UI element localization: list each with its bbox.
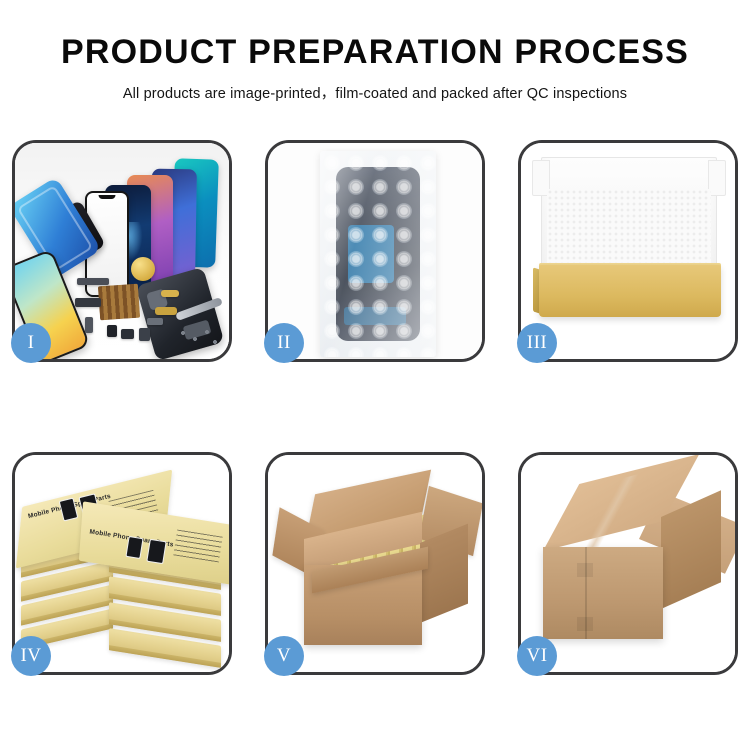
step-1-image: [15, 143, 229, 359]
page-subtitle: All products are image-printed，film-coat…: [0, 82, 750, 103]
process-step-panel-4: Mobile Phone Spare Parts Mobile Phone Sp…: [12, 452, 232, 675]
step-4-image: Mobile Phone Spare Parts Mobile Phone Sp…: [15, 455, 229, 672]
process-steps-grid: I II: [12, 140, 738, 675]
step-badge-4: IV: [11, 636, 51, 676]
step-3-image: [521, 143, 735, 359]
step-badge-5: V: [264, 636, 304, 676]
open-shipping-carton-illustration: [268, 455, 482, 672]
product-preparation-page: PRODUCT PREPARATION PROCESS All products…: [0, 0, 750, 750]
chip-array-icon: [98, 284, 140, 321]
step-badge-2: II: [264, 323, 304, 363]
page-header: PRODUCT PREPARATION PROCESS All products…: [0, 0, 750, 103]
process-step-panel-2: II: [265, 140, 485, 362]
step-badge-3: III: [517, 323, 557, 363]
stacked-retail-boxes-illustration: Mobile Phone Spare Parts Mobile Phone Sp…: [15, 455, 229, 672]
small-part-3-icon: [107, 325, 117, 337]
process-step-panel-5: V: [265, 452, 485, 675]
vibration-motor-icon: [131, 257, 155, 281]
step-badge-1: I: [11, 323, 51, 363]
page-title: PRODUCT PREPARATION PROCESS: [0, 34, 750, 71]
process-step-panel-6: VI: [518, 452, 738, 675]
screws-icon: [177, 327, 221, 349]
carton-tab-2-icon: [577, 617, 593, 631]
phone-screens-and-parts-illustration: [15, 143, 229, 359]
small-part-5-icon: [139, 328, 150, 341]
step-2-image: [268, 143, 482, 359]
step-5-image: [268, 455, 482, 672]
small-part-8-icon: [85, 317, 93, 333]
plastic-glare: [320, 151, 436, 357]
foam-lined-mailer-box-illustration: [521, 143, 735, 359]
bubble-wrapped-unit-illustration: [268, 143, 482, 359]
small-part-4-icon: [121, 329, 134, 339]
box-body-icon: [539, 265, 721, 317]
gold-connector-part-icon: [161, 290, 179, 297]
step-badge-6: VI: [517, 636, 557, 676]
sealed-shipping-carton-illustration: [521, 455, 735, 672]
step-6-image: [521, 455, 735, 672]
box-label-phone-image-4-icon: [146, 539, 166, 564]
process-step-panel-1: I: [12, 140, 232, 362]
process-step-panel-3: III: [518, 140, 738, 362]
flex-cable-part-icon: [77, 278, 109, 285]
bubble-wrap-sheet: [320, 151, 436, 357]
sealed-carton-front-face-icon: [543, 547, 663, 639]
connector-part-icon: [75, 298, 101, 307]
gold-flex-part-icon: [155, 307, 177, 315]
carton-tab-1-icon: [577, 563, 593, 577]
phone-notch-icon: [99, 195, 116, 199]
small-part-9-icon: [147, 318, 163, 325]
box-edge: [109, 645, 221, 668]
